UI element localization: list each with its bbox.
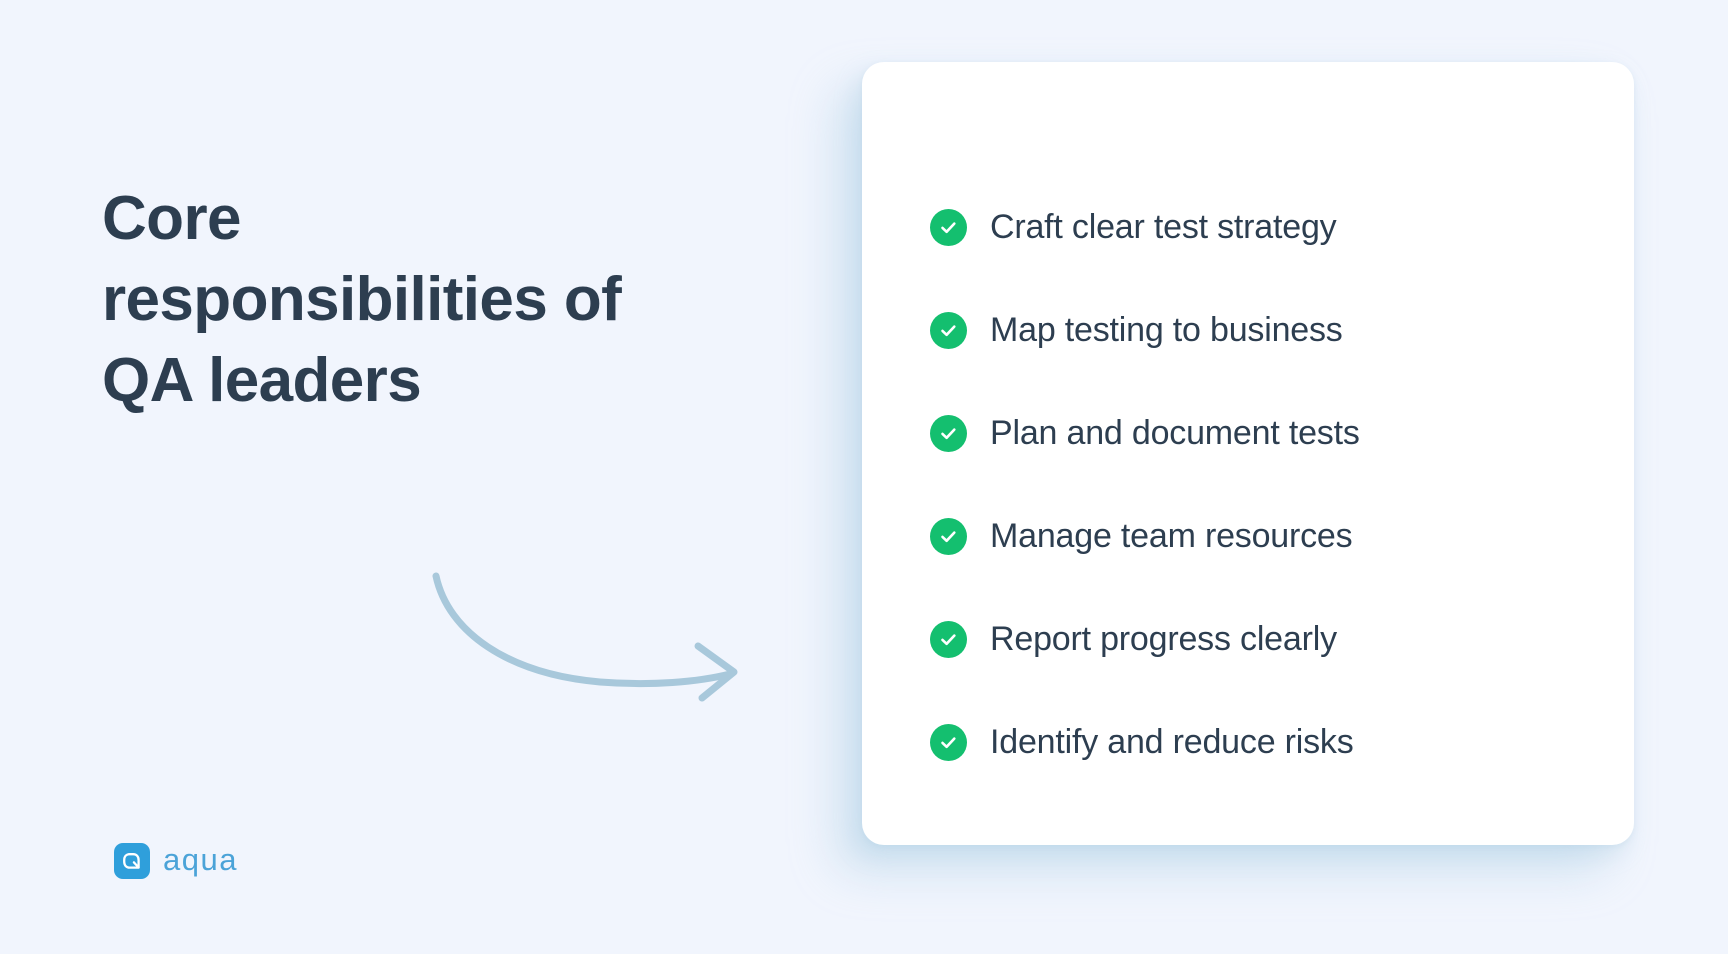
infographic-canvas: Core responsibilities of QA leaders aqua	[0, 0, 1728, 954]
list-item-label: Craft clear test strategy	[990, 207, 1336, 248]
list-item: Map testing to business	[930, 279, 1604, 382]
left-panel: Core responsibilities of QA leaders aqua	[0, 0, 862, 954]
list-item: Craft clear test strategy	[930, 176, 1604, 279]
checklist: Craft clear test strategy Map testing to…	[930, 176, 1604, 794]
curved-arrow-right-icon	[430, 570, 760, 710]
brand-logo: aqua	[114, 843, 238, 879]
list-item-label: Plan and document tests	[990, 413, 1360, 454]
checklist-card: Craft clear test strategy Map testing to…	[862, 62, 1634, 845]
check-circle-icon	[930, 312, 967, 349]
page-title: Core responsibilities of QA leaders	[102, 178, 722, 422]
brand-wordmark: aqua	[163, 844, 238, 878]
check-circle-icon	[930, 518, 967, 555]
check-circle-icon	[930, 415, 967, 452]
check-circle-icon	[930, 621, 967, 658]
list-item-label: Identify and reduce risks	[990, 722, 1354, 763]
check-circle-icon	[930, 209, 967, 246]
list-item: Plan and document tests	[930, 382, 1604, 485]
list-item: Identify and reduce risks	[930, 691, 1604, 794]
check-circle-icon	[930, 724, 967, 761]
list-item: Manage team resources	[930, 485, 1604, 588]
list-item-label: Manage team resources	[990, 516, 1352, 557]
aqua-logo-icon	[114, 843, 150, 879]
list-item-label: Map testing to business	[990, 310, 1343, 351]
list-item-label: Report progress clearly	[990, 619, 1337, 660]
list-item: Report progress clearly	[930, 588, 1604, 691]
